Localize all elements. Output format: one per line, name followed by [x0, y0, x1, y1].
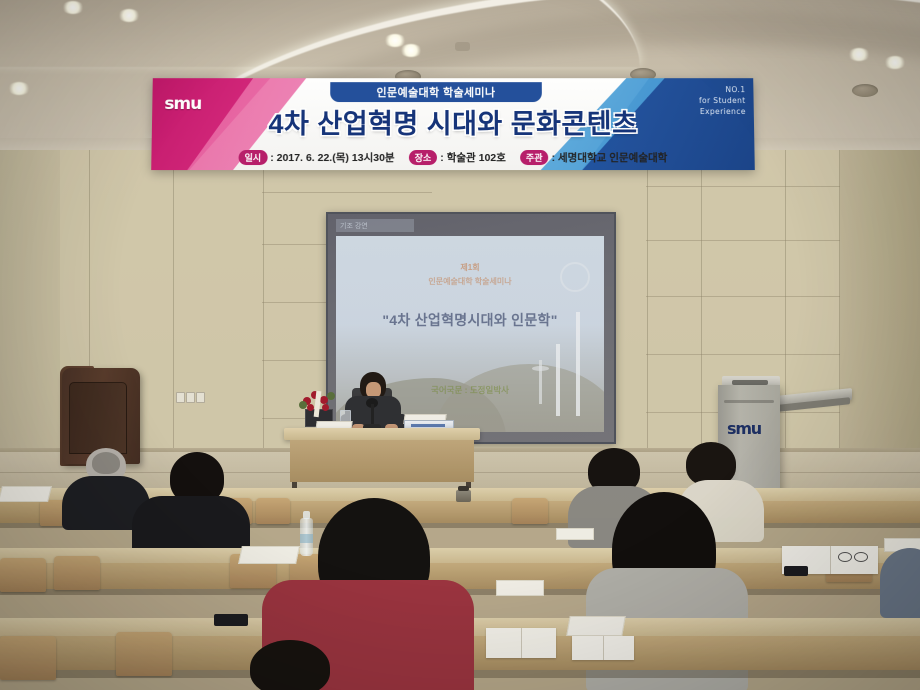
flower-foliage	[327, 392, 335, 400]
banner-chip-place: 장소	[409, 150, 438, 165]
auditorium-chair	[256, 498, 290, 524]
person-shoulders	[880, 548, 920, 618]
handout-sheet	[496, 580, 544, 596]
banner-place-value: : 학술관 102호	[440, 150, 506, 165]
banner-tagline-line1: NO.1	[699, 85, 746, 96]
smartphone	[784, 566, 808, 576]
speaker-table-front	[290, 440, 474, 482]
banner-main-title: 4차 산업혁명 시대와 문화콘텐츠	[152, 102, 755, 141]
wall-seam	[172, 150, 174, 480]
person-head	[250, 640, 330, 690]
slide-title: "4차 산업혁명시대와 인문학"	[336, 310, 604, 330]
wall-outlet-icon	[186, 392, 195, 403]
wall-seam	[646, 186, 840, 187]
podium-groove	[724, 400, 774, 403]
ceiling-lamp-icon	[400, 44, 422, 57]
wall-seam	[784, 150, 786, 480]
slide-corner-label: 기조 강연	[336, 219, 414, 232]
auditorium-chair	[512, 498, 548, 524]
right-wall	[840, 150, 920, 480]
wall-seam	[646, 240, 840, 241]
banner-subtitle-bar: 인문예술대학 학술세미나	[330, 82, 542, 102]
wall-seam	[700, 150, 702, 480]
auditorium-chair	[116, 632, 172, 676]
banner-host-value: : 세명대학교 인문예술대학	[552, 150, 668, 165]
banner-info-row: 일시 : 2017. 6. 22.(목) 13시30분 장소 : 학술관 102…	[151, 150, 754, 165]
smartphone	[214, 614, 248, 626]
podium-smu-logo: smu	[727, 419, 761, 438]
left-wall	[0, 150, 60, 480]
ceiling-speaker-icon	[852, 84, 878, 97]
banner-info-place: 장소 : 학술관 102호	[409, 150, 506, 165]
banner-info-date: 일시 : 2017. 6. 22.(목) 13시30분	[239, 150, 395, 165]
handout-sheet	[0, 486, 52, 502]
handout-sheet	[556, 528, 594, 540]
ceiling-lamp-icon	[118, 9, 140, 22]
open-notebook	[486, 628, 556, 658]
coffee-cup	[456, 490, 471, 502]
banner-chip-host: 주관	[520, 150, 549, 165]
wall-seam	[646, 296, 840, 297]
slide-tower-graphic	[539, 360, 542, 404]
water-bottle	[300, 518, 313, 556]
ceiling-lamp-icon	[8, 82, 30, 95]
ceiling-lamp-icon	[848, 48, 870, 61]
banner-chip-date: 일시	[239, 150, 268, 165]
auditorium-chair	[54, 556, 100, 590]
slide-turbine-graphic	[556, 344, 560, 416]
banner-subtitle-text: 인문예술대학 학술세미나	[377, 84, 496, 100]
flower-bloom	[307, 404, 314, 411]
person-hair	[92, 452, 120, 474]
handout-sheet	[566, 616, 626, 636]
auditorium-chair	[0, 636, 56, 680]
slide-corner-label-text: 기조 강연	[340, 221, 368, 231]
lecture-hall-photo: smu NO.1 for Student Experience 인문예술대학 학…	[0, 0, 920, 690]
slide-line-1: 제1회	[336, 262, 604, 273]
wall-outlet-icon	[176, 392, 185, 403]
ceiling-vent-icon	[455, 42, 470, 51]
banner-date-value: : 2017. 6. 22.(목) 13시30분	[270, 150, 394, 165]
ceiling-lamp-icon	[884, 56, 906, 69]
handout-sheet	[238, 546, 300, 564]
flower-bloom	[322, 404, 329, 411]
wall-seam	[646, 150, 648, 480]
wall-seam	[646, 354, 840, 355]
ceiling-lamp-icon	[62, 1, 84, 14]
wall-outlet-icon	[196, 392, 205, 403]
banner-info-host: 주관 : 세명대학교 인문예술대학	[520, 150, 668, 165]
flower-foliage	[299, 401, 307, 409]
speaker-table	[284, 428, 480, 440]
eyeglasses	[838, 552, 868, 561]
flower-arrangement	[299, 385, 337, 425]
wall-seam	[262, 192, 432, 193]
seminar-banner: smu NO.1 for Student Experience 인문예술대학 학…	[151, 78, 755, 170]
open-notebook	[572, 636, 634, 660]
wall-seam	[262, 150, 264, 480]
slide-line-2: 인문예술대학 학술세미나	[336, 276, 604, 287]
auditorium-chair	[0, 558, 46, 592]
